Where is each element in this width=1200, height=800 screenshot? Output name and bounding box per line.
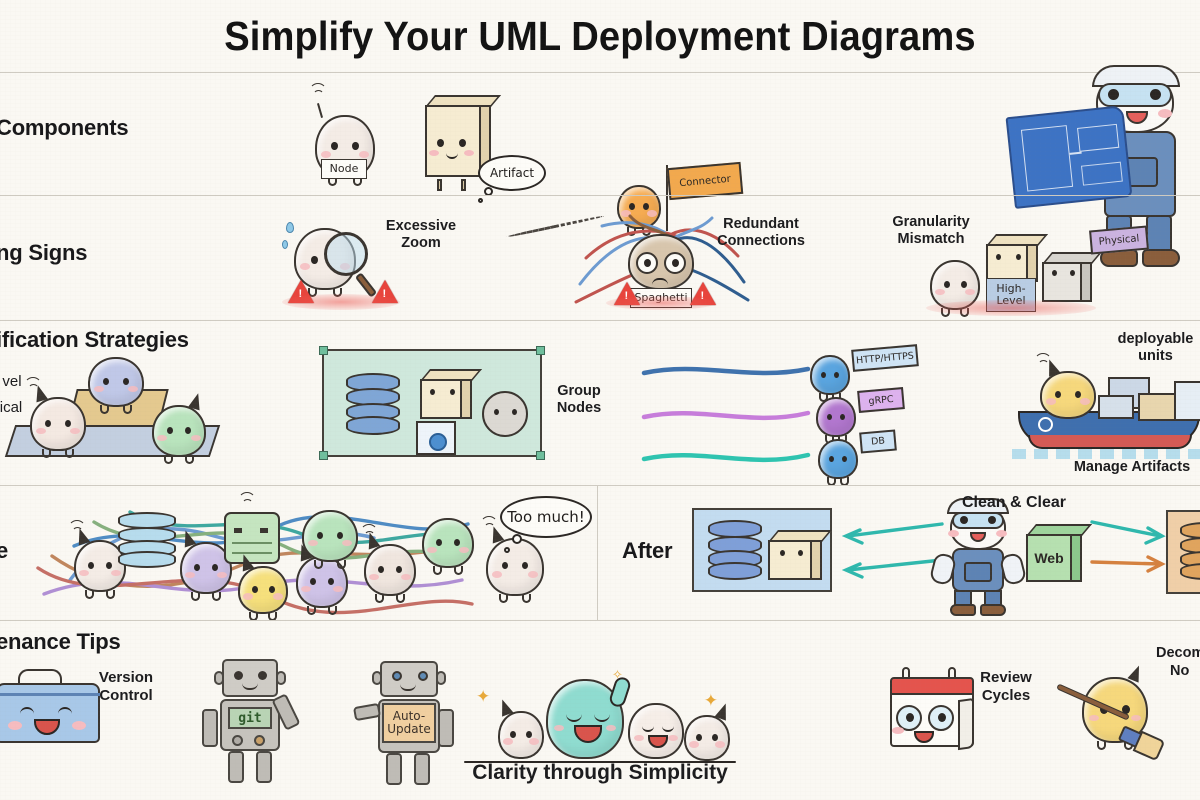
- node-tangled: [422, 518, 474, 568]
- captain-blob: [1040, 371, 1096, 419]
- wifi-icon: [68, 526, 84, 538]
- after-panel-left: [692, 508, 832, 592]
- wave-http: [644, 369, 808, 373]
- node-tangled: [364, 544, 416, 596]
- git-robot: git: [196, 659, 306, 789]
- warning-floor-glow: [606, 296, 716, 310]
- sweat-drop-icon: [286, 222, 294, 233]
- celebrating-team: ✦ ✦ ✧: [466, 673, 736, 775]
- node-tangled: [302, 510, 358, 562]
- sweat-drop-icon: [282, 240, 288, 249]
- web-box: Web: [1026, 524, 1082, 582]
- row-components: Components Node: [0, 72, 1200, 195]
- database-icon: [1180, 522, 1200, 580]
- abstraction-levels-group: [10, 357, 240, 477]
- caption-decommission-nodes-line2: No: [1170, 663, 1200, 680]
- node-blue: [88, 357, 144, 407]
- panel-corner-handle[interactable]: [536, 346, 545, 355]
- row-label-maintenance: enance Tips: [0, 629, 121, 655]
- caption-decommission-nodes-line1: Decomm: [1156, 645, 1200, 662]
- tangled-nodes-group: [34, 494, 474, 616]
- row-simplification-strategies: ification Strategies vel ical: [0, 320, 1200, 485]
- manage-artifacts-boat: [1012, 365, 1200, 465]
- team-node-cream: [628, 703, 684, 759]
- sparkle-icon: ✦: [476, 687, 490, 707]
- panel-corner-handle[interactable]: [319, 451, 328, 460]
- too-much-thought-bubble: Too much!: [500, 496, 592, 538]
- footer-tagline: Clarity through Simplicity: [440, 761, 760, 786]
- git-screen: git: [228, 707, 272, 729]
- caption-manage-artifacts: Manage Artifacts: [1062, 459, 1200, 476]
- after-arrows-right: [1090, 514, 1176, 584]
- team-node-small: [498, 711, 544, 759]
- row-before-after: e: [0, 485, 1200, 620]
- high-level-box: [986, 234, 1038, 282]
- web-box-label: Web: [1034, 550, 1063, 566]
- team-node-right: [684, 715, 730, 761]
- before-after-divider: [597, 486, 598, 621]
- service-card-icon: [416, 421, 456, 455]
- magnifier-icon: [324, 232, 368, 276]
- caption-excessive-zoom: Excessive Zoom: [376, 218, 466, 252]
- database-icon: [346, 373, 400, 435]
- database-icon: [708, 520, 762, 580]
- water-line: [1012, 449, 1200, 459]
- caption-redundant-connections: Redundant Connections: [706, 216, 816, 250]
- wifi-icon: [360, 530, 376, 542]
- node-cream: [30, 397, 86, 451]
- row-warning-signs: ng Signs Excessive Zoom: [0, 195, 1200, 320]
- caption-group-nodes: Group Nodes: [548, 383, 610, 417]
- panel-corner-handle[interactable]: [319, 346, 328, 355]
- artifact-speech-bubble: Artifact: [478, 155, 546, 191]
- connection-waves: HTTP/HTTPS gRPC DB: [640, 351, 940, 471]
- caption-deployable-units: deployable units: [1108, 331, 1200, 365]
- row-maintenance-tips: enance Tips Version Control git: [0, 620, 1200, 800]
- warning-floor-glow: [926, 300, 1096, 316]
- group-nodes-panel: [322, 349, 542, 457]
- artifact-icon: [768, 530, 822, 580]
- caption-clean-and-clear: Clean & Clear: [956, 494, 1072, 513]
- wifi-icon: [1034, 359, 1050, 371]
- node-tangled: [238, 566, 288, 614]
- row-label-after: After: [622, 538, 672, 564]
- wave-grpc: [644, 413, 808, 418]
- after-panel-right: [1166, 510, 1200, 594]
- row-label-warning-signs: ng Signs: [0, 240, 87, 266]
- wave-db: [644, 455, 808, 460]
- blueprint: [1006, 105, 1133, 209]
- wifi-icon: [238, 498, 254, 510]
- cargo-crate: [1174, 381, 1200, 421]
- overwhelmed-node: [486, 538, 544, 596]
- row-label-before: e: [0, 538, 8, 564]
- caption-version-control: Version Control: [82, 669, 170, 704]
- node-label-plate: Node: [321, 159, 367, 179]
- gear-icon: [482, 391, 528, 437]
- anchor-icon: [1038, 417, 1053, 432]
- physical-box: [1042, 252, 1092, 302]
- wifi-icon: [480, 522, 496, 534]
- decommission-sweeper: [1058, 671, 1178, 767]
- page-title: Simplify Your UML Deployment Diagrams: [224, 13, 975, 60]
- server-node-green: [224, 512, 280, 564]
- sparkle-icon: ✦: [704, 691, 718, 711]
- panel-corner-handle[interactable]: [536, 451, 545, 460]
- row-label-components: Components: [0, 115, 128, 141]
- infographic-canvas: Simplify Your UML Deployment Diagrams Co…: [0, 0, 1200, 800]
- wifi-icon: [24, 383, 40, 395]
- blob-grpc: [816, 397, 856, 437]
- warning-floor-glow: [282, 294, 400, 310]
- node-green: [152, 405, 206, 457]
- engineer-after: [930, 498, 1026, 616]
- blob-db: [818, 439, 858, 479]
- title-bar: Simplify Your UML Deployment Diagrams: [0, 0, 1200, 72]
- granularity-mismatch-group: High-Level Physical: [930, 236, 1150, 316]
- cargo-crate: [1138, 393, 1176, 421]
- auto-update-plate: Auto- Update: [382, 703, 436, 743]
- node-character: Node: [305, 91, 385, 183]
- artifact-icon: [420, 369, 472, 419]
- cargo-crate: [1098, 395, 1134, 419]
- database-icon: [118, 512, 176, 568]
- blob-http: [810, 355, 850, 395]
- caption-review-cycles: Review Cycles: [968, 669, 1044, 704]
- row-label-simplification: ification Strategies: [0, 327, 189, 353]
